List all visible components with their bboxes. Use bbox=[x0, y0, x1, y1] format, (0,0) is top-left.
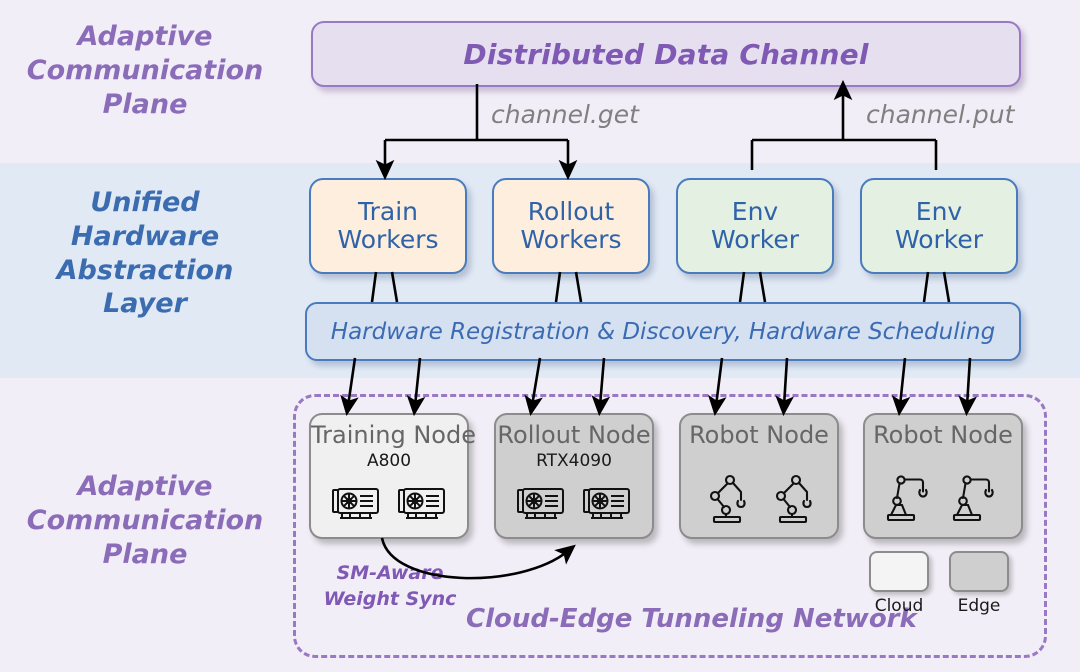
worker-label-line: Env bbox=[916, 198, 962, 226]
node-title: Robot Node bbox=[865, 421, 1021, 449]
hardware-abstraction-layer-box[interactable]: Hardware Registration & Discovery, Hardw… bbox=[305, 302, 1021, 361]
plane-label-line: Communication bbox=[10, 504, 280, 538]
gpu-icon bbox=[515, 481, 567, 529]
robot-arm-icon bbox=[700, 469, 752, 529]
hardware-abstraction-layer-text: Hardware Registration & Discovery, Hardw… bbox=[331, 319, 995, 345]
worker-label-line: Train bbox=[358, 198, 418, 226]
node-box-robot-node-1[interactable]: Robot Node bbox=[679, 413, 839, 539]
channel-get-label: channel.get bbox=[491, 100, 639, 129]
plane-label-line: Adaptive bbox=[10, 470, 280, 504]
node-title: Rollout Node bbox=[496, 421, 652, 449]
robot-arm-alt-icon bbox=[950, 469, 1002, 529]
plane-label-line: Abstraction bbox=[10, 254, 280, 288]
node-icon-row bbox=[681, 469, 837, 529]
gpu-icon bbox=[581, 481, 633, 529]
distributed-data-channel-box[interactable]: Distributed Data Channel bbox=[311, 21, 1021, 87]
node-icon-row bbox=[311, 481, 467, 529]
node-box-rollout-node[interactable]: Rollout Node RTX4090 bbox=[494, 413, 654, 539]
cloud-edge-tunneling-label: Cloud-Edge Tunneling Network bbox=[466, 604, 917, 634]
node-box-training-node[interactable]: Training Node A800 bbox=[309, 413, 469, 539]
plane-label-adaptive-communication-bottom: Adaptive Communication Plane bbox=[10, 470, 280, 571]
sm-aware-line: SM-Aware bbox=[315, 561, 465, 587]
plane-label-adaptive-communication-top: Adaptive Communication Plane bbox=[10, 20, 280, 121]
worker-label-line: Worker bbox=[895, 226, 983, 254]
node-box-robot-node-2[interactable]: Robot Node bbox=[863, 413, 1023, 539]
diagram-canvas: Adaptive Communication Plane Unified Har… bbox=[0, 0, 1080, 672]
plane-label-line: Communication bbox=[10, 54, 280, 88]
worker-label-line: Workers bbox=[337, 226, 438, 254]
legend-label-cloud: Cloud bbox=[875, 596, 924, 616]
plane-label-line: Hardware bbox=[10, 220, 280, 254]
gpu-icon bbox=[396, 481, 448, 529]
node-subtitle: RTX4090 bbox=[496, 451, 652, 471]
legend-label-edge: Edge bbox=[958, 596, 1001, 616]
channel-put-label: channel.put bbox=[866, 100, 1014, 129]
worker-label-line: Env bbox=[732, 198, 778, 226]
worker-box-env-worker-2[interactable]: Env Worker bbox=[860, 178, 1018, 274]
worker-box-train-workers[interactable]: Train Workers bbox=[309, 178, 467, 274]
node-icon-row bbox=[865, 469, 1021, 529]
plane-label-line: Layer bbox=[10, 287, 280, 321]
node-icon-row bbox=[496, 481, 652, 529]
legend-swatch-edge bbox=[949, 551, 1009, 592]
robot-arm-icon bbox=[766, 469, 818, 529]
legend-item-edge: Edge bbox=[949, 551, 1009, 616]
worker-label-line: Worker bbox=[711, 226, 799, 254]
legend-swatch-cloud bbox=[869, 551, 929, 592]
plane-label-line: Adaptive bbox=[10, 20, 280, 54]
tier-legend: Cloud Edge bbox=[869, 551, 1009, 616]
sm-aware-weight-sync-label: SM-Aware Weight Sync bbox=[315, 561, 465, 612]
plane-label-line: Plane bbox=[10, 88, 280, 122]
node-title: Robot Node bbox=[681, 421, 837, 449]
plane-label-line: Unified bbox=[10, 186, 280, 220]
worker-label-line: Rollout bbox=[528, 198, 614, 226]
worker-box-env-worker-1[interactable]: Env Worker bbox=[676, 178, 834, 274]
worker-box-rollout-workers[interactable]: Rollout Workers bbox=[492, 178, 650, 274]
legend-item-cloud: Cloud bbox=[869, 551, 929, 616]
node-title: Training Node bbox=[311, 421, 467, 449]
node-subtitle: A800 bbox=[311, 451, 467, 471]
sm-aware-line: Weight Sync bbox=[315, 587, 465, 613]
robot-arm-alt-icon bbox=[884, 469, 936, 529]
distributed-data-channel-title: Distributed Data Channel bbox=[463, 38, 868, 71]
plane-label-unified-hardware-abstraction-layer: Unified Hardware Abstraction Layer bbox=[10, 186, 280, 321]
gpu-icon bbox=[330, 481, 382, 529]
worker-label-line: Workers bbox=[520, 226, 621, 254]
plane-label-line: Plane bbox=[10, 538, 280, 572]
